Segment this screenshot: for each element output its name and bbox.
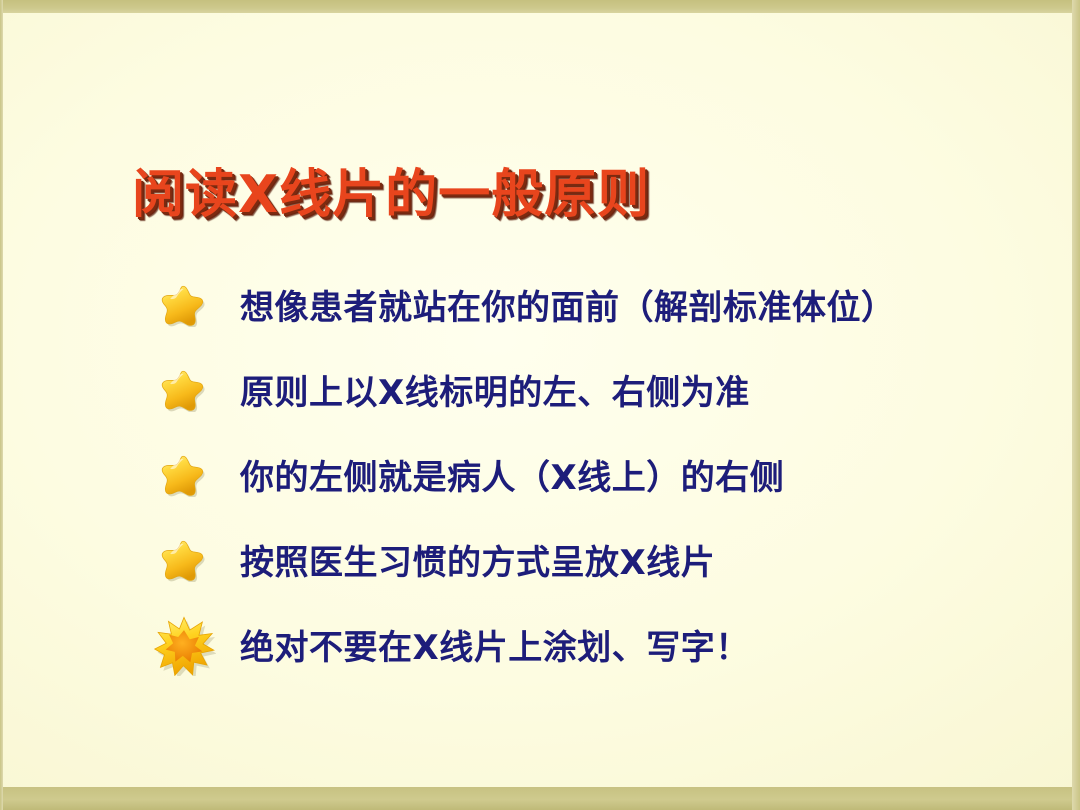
slide-title: 阅读X线片的一般原则 — [132, 168, 650, 223]
list-item: 原则上以X线标明的左、右侧为准 — [160, 347, 1040, 432]
bullet-list: 想像患者就站在你的面前（解剖标准体位） 原则上以X线标明的左、右侧为准 — [160, 262, 1040, 687]
list-item-label: 你的左侧就是病人（X线上）的右侧 — [240, 450, 784, 499]
list-item: 绝对不要在X线片上涂划、写字！ — [160, 602, 1040, 687]
frame-band-top — [0, 0, 1080, 13]
list-item: 按照医生习惯的方式呈放X线片 — [160, 517, 1040, 602]
gold-star-icon — [160, 277, 222, 333]
list-item-label: 按照医生习惯的方式呈放X线片 — [240, 535, 715, 584]
list-item: 你的左侧就是病人（X线上）的右侧 — [160, 432, 1040, 517]
gold-star-icon — [160, 532, 222, 588]
frame-band-bottom — [0, 787, 1080, 810]
list-item: 想像患者就站在你的面前（解剖标准体位） — [160, 262, 1040, 347]
presentation-slide: 阅读X线片的一般原则 — [0, 0, 1080, 810]
frame-band-left — [0, 0, 3, 810]
gold-star-icon — [160, 447, 222, 503]
list-item-label: 绝对不要在X线片上涂划、写字！ — [240, 620, 750, 669]
list-item-label: 想像患者就站在你的面前（解剖标准体位） — [240, 280, 896, 329]
starburst-icon — [160, 617, 222, 673]
frame-band-right — [1072, 0, 1080, 810]
list-item-label: 原则上以X线标明的左、右侧为准 — [240, 365, 750, 414]
gold-star-icon — [160, 362, 222, 418]
